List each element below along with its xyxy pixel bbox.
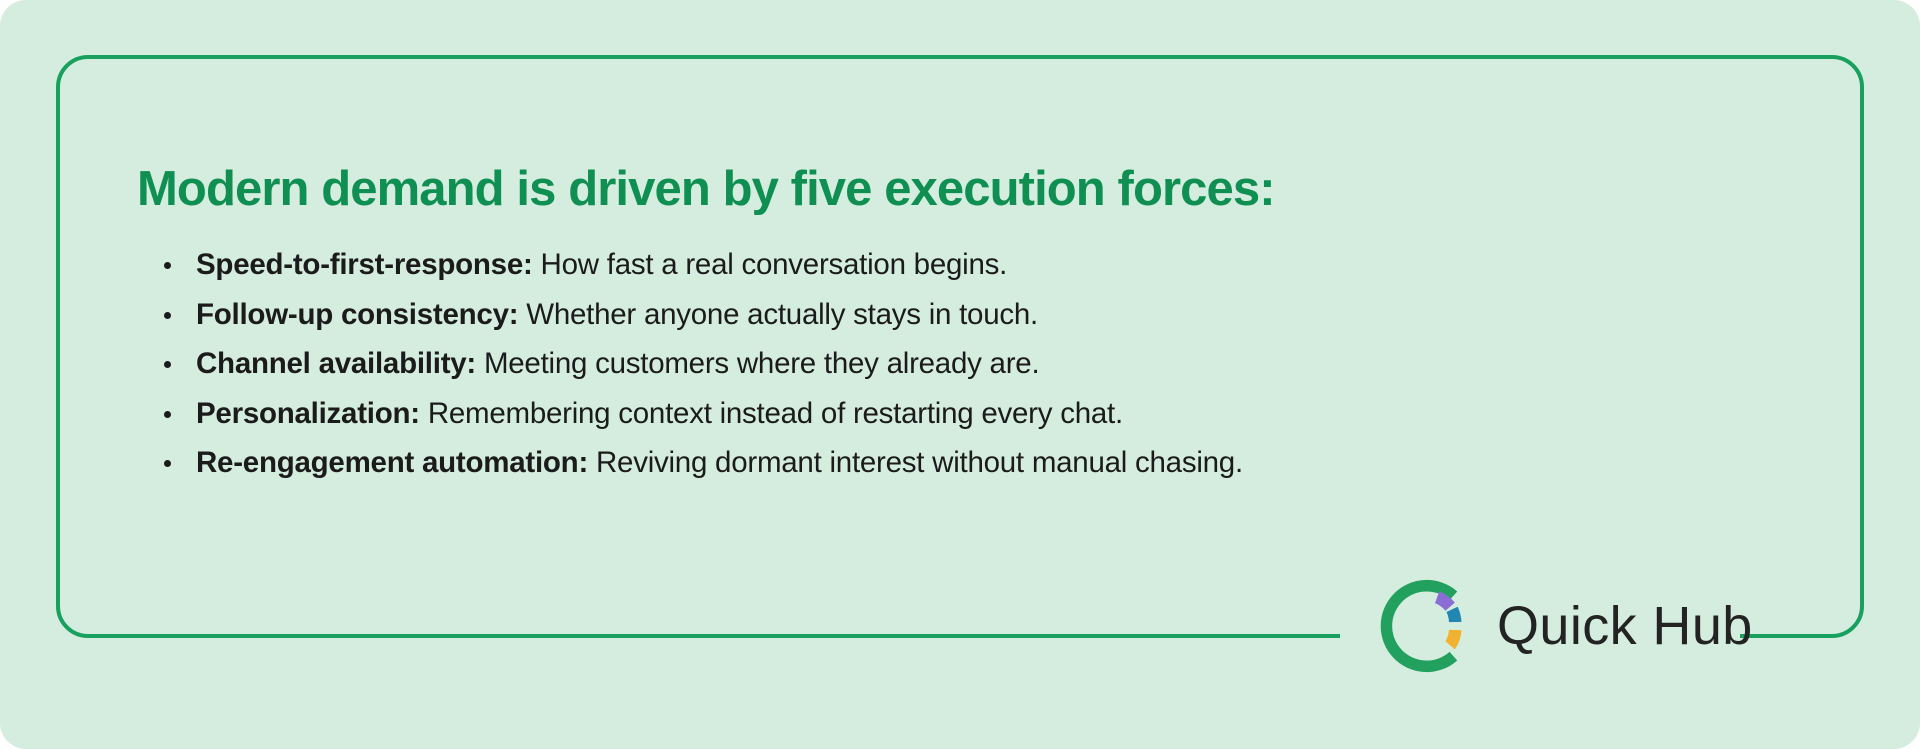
list-item-term: Re-engagement automation: bbox=[196, 446, 588, 479]
slide-canvas: Modern demand is driven by five executio… bbox=[0, 0, 1920, 749]
list-item: Re-engagement automation: Reviving dorma… bbox=[152, 446, 1772, 480]
bullet-dot-icon bbox=[164, 312, 171, 319]
bullet-dot-icon bbox=[164, 361, 171, 368]
list-item: Channel availability: Meeting customers … bbox=[152, 347, 1772, 381]
quick-hub-ring-icon bbox=[1379, 578, 1475, 674]
list-item: Speed-to-first-response: How fast a real… bbox=[152, 248, 1772, 282]
list-item-description: Remembering context instead of restartin… bbox=[428, 397, 1123, 430]
list-item-description: Reviving dormant interest without manual… bbox=[596, 446, 1243, 479]
bullet-dot-icon bbox=[164, 411, 171, 418]
list-item-term: Follow-up consistency: bbox=[196, 298, 518, 331]
list-item-term: Channel availability: bbox=[196, 347, 476, 380]
brand-wordmark: Quick Hub bbox=[1497, 599, 1753, 653]
brand-logo: Quick Hub bbox=[1379, 578, 1753, 674]
list-item-description: How fast a real conversation begins. bbox=[541, 248, 1008, 281]
list-item: Follow-up consistency: Whether anyone ac… bbox=[152, 298, 1772, 332]
list-item-term: Personalization: bbox=[196, 397, 420, 430]
page-title: Modern demand is driven by five executio… bbox=[137, 161, 1777, 217]
list-item-description: Meeting customers where they already are… bbox=[484, 347, 1039, 380]
list-item: Personalization: Remembering context ins… bbox=[152, 397, 1772, 431]
list-item-term: Speed-to-first-response: bbox=[196, 248, 533, 281]
execution-forces-list: Speed-to-first-response: How fast a real… bbox=[152, 248, 1772, 480]
bullet-dot-icon bbox=[164, 460, 171, 467]
bullet-dot-icon bbox=[164, 262, 171, 269]
list-item-description: Whether anyone actually stays in touch. bbox=[526, 298, 1038, 331]
